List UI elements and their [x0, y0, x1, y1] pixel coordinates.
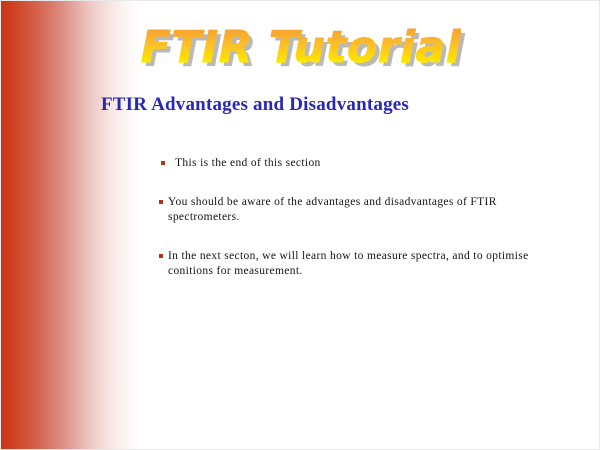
bullet-marker-icon — [159, 200, 163, 204]
bullet-text: In the next secton, we will learn how to… — [168, 249, 541, 279]
presentation-slide: FTIR Tutorial FTIR Tutorial FTIR Advanta… — [0, 0, 600, 450]
bullet-marker-icon — [161, 161, 165, 165]
bullet-marker-icon — [159, 254, 163, 258]
list-item: You should be aware of the advantages an… — [159, 195, 541, 225]
list-item: This is the end of this section — [159, 156, 541, 171]
wordart-title-shadow: FTIR Tutorial — [145, 27, 466, 77]
wordart-stack: FTIR Tutorial FTIR Tutorial — [141, 23, 462, 73]
bullet-list: This is the end of this section You shou… — [159, 156, 541, 303]
list-item: In the next secton, we will learn how to… — [159, 249, 541, 279]
bullet-text: You should be aware of the advantages an… — [168, 195, 541, 225]
wordart-title-face: FTIR Tutorial — [141, 22, 462, 73]
left-gradient-band — [1, 1, 141, 450]
slide-heading: FTIR Advantages and Disadvantages — [101, 94, 409, 116]
bullet-text: This is the end of this section — [175, 156, 541, 171]
